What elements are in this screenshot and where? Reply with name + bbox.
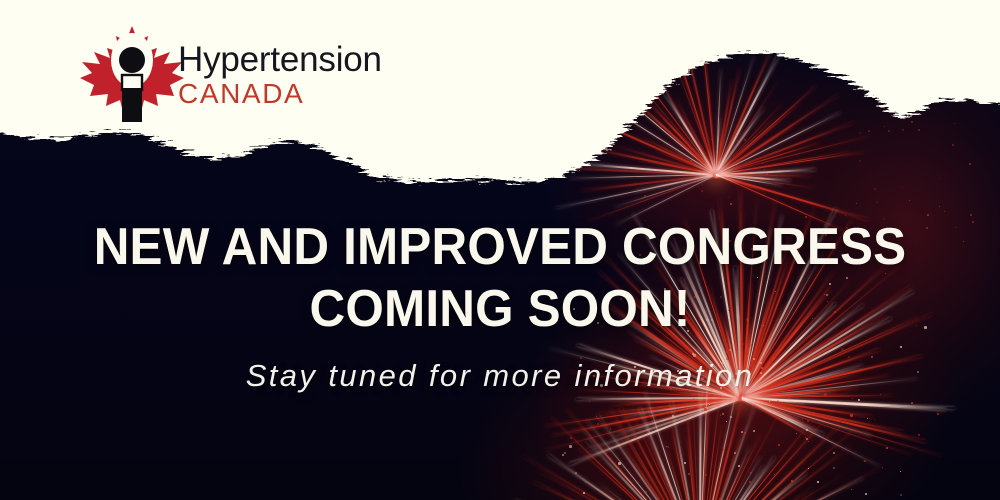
logo-wordmark: Hypertension CANADA xyxy=(178,42,382,109)
subheadline: Stay tuned for more information xyxy=(0,358,1000,394)
logo-line-canada: CANADA xyxy=(178,79,382,109)
logo-line-hypertension: Hypertension xyxy=(178,42,382,78)
headline-line-2: COMING SOON! xyxy=(25,278,975,340)
promo-banner: Hypertension CANADA NEW AND IMPROVED CON… xyxy=(0,0,1000,500)
headline-line-1: NEW AND IMPROVED CONGRESS xyxy=(25,216,975,278)
maple-leaf-icon xyxy=(78,24,186,122)
headline-block: NEW AND IMPROVED CONGRESS COMING SOON! S… xyxy=(0,216,1000,394)
hypertension-canada-logo: Hypertension CANADA xyxy=(78,24,388,122)
